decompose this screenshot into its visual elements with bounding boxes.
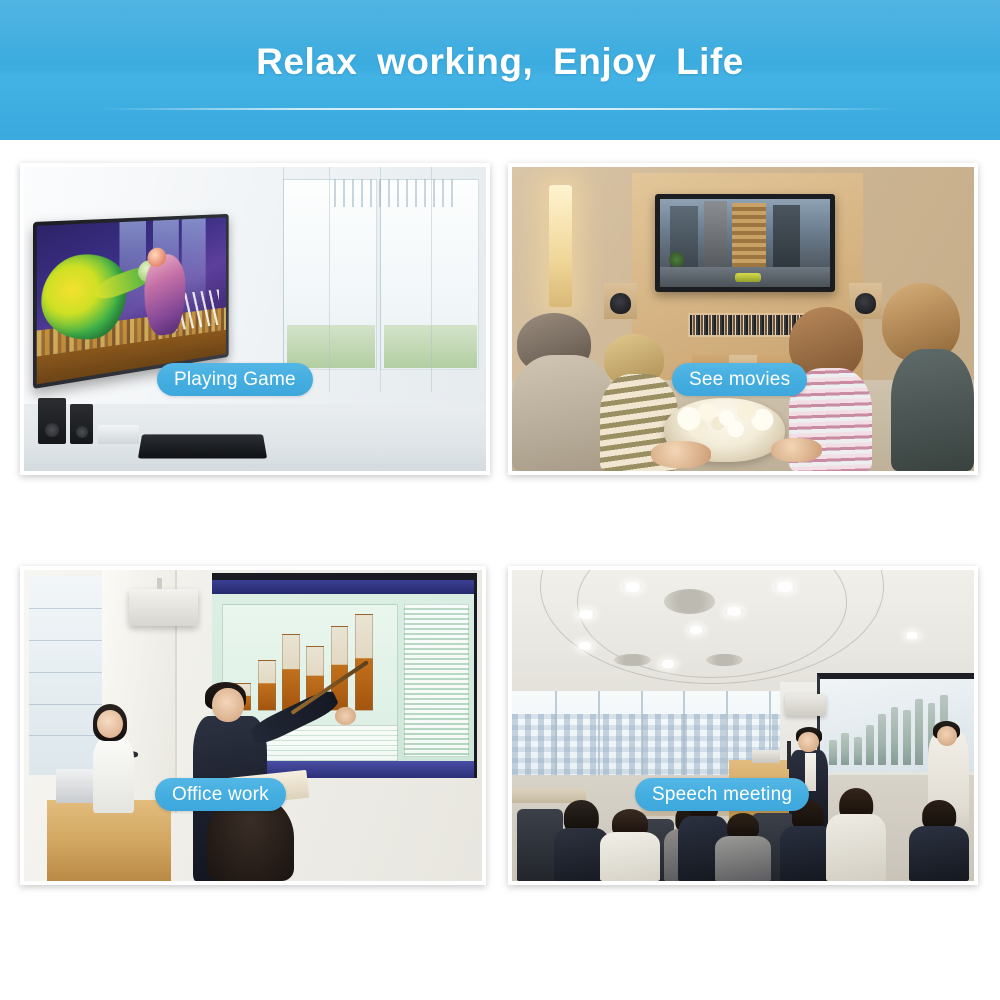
slide-bar (878, 714, 886, 764)
slide-bar (854, 737, 862, 765)
attendee (715, 813, 770, 881)
slide-bar (891, 707, 899, 765)
scene-speech-meeting (512, 570, 974, 881)
caption-label: See movies (689, 369, 790, 391)
slide-bar (258, 660, 276, 711)
television (655, 194, 835, 291)
photo-frame (20, 566, 486, 885)
downlight (688, 626, 705, 634)
caption-label: Office work (172, 784, 269, 806)
caption-see-movies[interactable]: See movies (672, 363, 807, 396)
father-body (512, 355, 614, 471)
office-window (29, 576, 104, 775)
popcorn (669, 401, 780, 441)
slide-bar (841, 733, 849, 765)
slide-bar (915, 699, 923, 764)
slide-bar (866, 725, 874, 764)
downlight (905, 632, 919, 639)
movie-car (735, 273, 761, 283)
downlight (725, 607, 743, 616)
woman-body (93, 738, 134, 813)
ceiling-rack (334, 179, 454, 206)
panel-grid (0, 140, 1000, 1000)
attendee (600, 809, 660, 881)
window-greenery-left (287, 325, 375, 368)
speaker-left (38, 398, 66, 444)
assistant-head (937, 726, 957, 746)
tv-screen-movie (660, 199, 830, 286)
scene-office-work (24, 570, 482, 881)
caption-speech-meeting[interactable]: Speech meeting (635, 778, 809, 811)
photo-frame (508, 566, 978, 885)
movie-building-3 (732, 203, 766, 269)
page-title: Relax working, Enjoy Life (0, 42, 1000, 83)
speaker-right (70, 404, 93, 444)
photo-frame (20, 163, 490, 475)
mother-body (891, 349, 974, 471)
slide-bar (282, 634, 300, 710)
panel-playing-game[interactable] (20, 163, 490, 475)
blind-line-2 (329, 167, 330, 392)
speaker-left (604, 283, 636, 319)
caption-label: Speech meeting (652, 784, 792, 806)
downlight (775, 582, 794, 591)
panel-speech-meeting[interactable] (508, 566, 978, 885)
ceiling-projector (785, 694, 827, 716)
panel-office-work[interactable] (20, 566, 486, 885)
caption-office-work[interactable]: Office work (155, 778, 286, 811)
presenter-head (798, 732, 818, 752)
header-banner: Relax working, Enjoy Life (0, 0, 1000, 140)
attendee (826, 788, 886, 881)
movie-building-2 (704, 201, 726, 269)
ceiling-vent (664, 589, 715, 614)
downlight (623, 582, 642, 591)
scene-see-movies (512, 167, 974, 471)
ottoman (137, 435, 266, 459)
hand-reaching-bowl (771, 438, 822, 462)
blind-line-1 (283, 167, 284, 392)
presenter-head (212, 688, 244, 722)
slide-title-bar (212, 580, 475, 594)
slide-bar (903, 710, 911, 764)
caption-label: Playing Game (174, 369, 296, 391)
slide-side-column (404, 604, 469, 757)
header-divider (100, 108, 900, 110)
panel-see-movies[interactable] (508, 163, 978, 475)
downlight (660, 660, 676, 667)
hand-holding-bowl (651, 441, 711, 468)
media-console (98, 425, 140, 443)
woman-head (97, 710, 123, 738)
photo-frame (508, 163, 978, 475)
slide-bar (829, 740, 837, 764)
movie-building-4 (773, 205, 800, 270)
caption-playing-game[interactable]: Playing Game (157, 363, 313, 396)
scene-playing-game (24, 167, 486, 471)
attendee (909, 800, 969, 881)
ceiling-projector (129, 589, 198, 626)
downlight (577, 642, 594, 650)
tv-screen-game (37, 217, 226, 384)
speaker-right (849, 283, 881, 319)
floor-lamp (549, 185, 572, 307)
podium-laptop (752, 750, 780, 762)
